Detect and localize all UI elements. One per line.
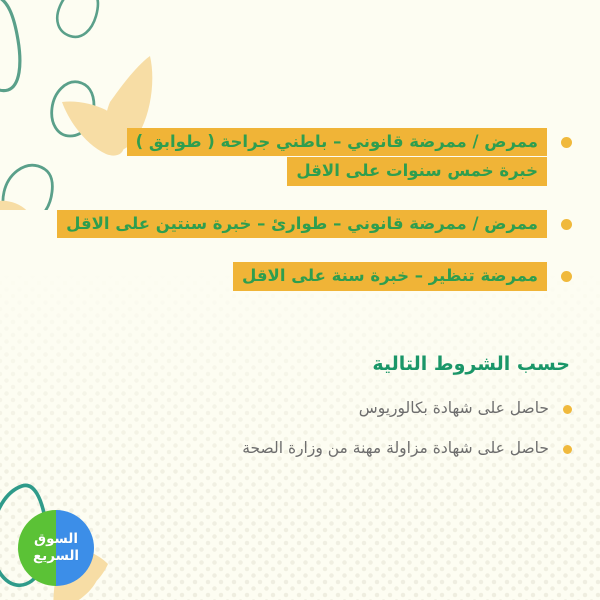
logo-text: السوق السريع [33,531,79,565]
job-listing-line: ممرض / ممرضة قانوني – باطني جراحة ( طواب… [127,128,547,156]
bullet-dot-icon [561,137,572,148]
condition-item: حاصل على شهادة بكالوريوس [28,397,572,419]
job-listing-item: ممرض / ممرضة قانوني – باطني جراحة ( طواب… [28,128,572,186]
condition-item: حاصل على شهادة مزاولة مهنة من وزارة الصح… [28,437,572,459]
job-listing-line: ممرض / ممرضة قانوني – طوارئ – خبرة سنتين… [57,210,547,238]
bullet-dot-icon [561,219,572,230]
job-listing-item: ممرضة تنظير – خبرة سنة على الاقل [28,262,572,290]
job-listings-section: ممرض / ممرضة قانوني – باطني جراحة ( طواب… [28,128,572,315]
logo-text-line-2: السريع [33,548,79,565]
conditions-heading: حسب الشروط التالية [28,353,572,375]
brand-logo[interactable]: السوق السريع [18,510,94,586]
job-listing-item: ممرض / ممرضة قانوني – طوارئ – خبرة سنتين… [28,210,572,238]
job-listing-line: ممرضة تنظير – خبرة سنة على الاقل [233,262,547,290]
bullet-dot-icon [563,405,572,414]
job-listing-lines: ممرض / ممرضة قانوني – طوارئ – خبرة سنتين… [28,210,547,238]
job-listing-lines: ممرضة تنظير – خبرة سنة على الاقل [28,262,547,290]
job-posting-poster: ممرض / ممرضة قانوني – باطني جراحة ( طواب… [0,0,600,600]
condition-text: حاصل على شهادة بكالوريوس [28,397,549,419]
job-listing-lines: ممرض / ممرضة قانوني – باطني جراحة ( طواب… [28,128,547,186]
logo-text-line-1: السوق [33,531,79,548]
conditions-section: حسب الشروط التالية حاصل على شهادة بكالور… [28,353,572,478]
condition-text: حاصل على شهادة مزاولة مهنة من وزارة الصح… [28,437,549,459]
bullet-dot-icon [563,445,572,454]
bullet-dot-icon [561,271,572,282]
job-listing-line: خبرة خمس سنوات على الاقل [287,157,547,185]
